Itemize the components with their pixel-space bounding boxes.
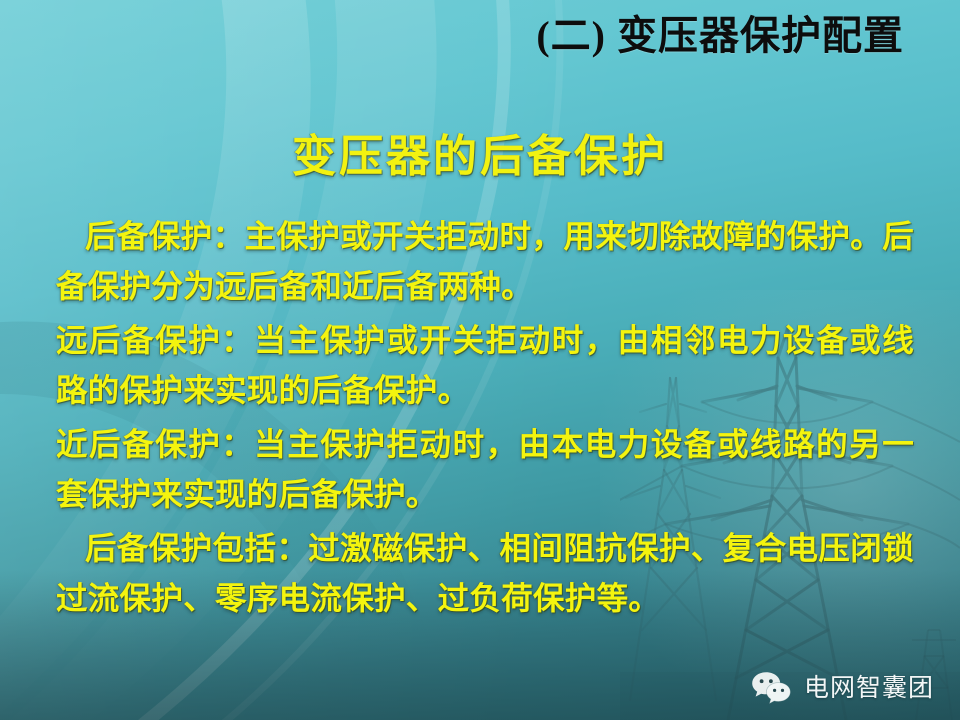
page-title: (二) 变压器保护配置 — [0, 12, 904, 60]
paragraph-backup-protection-types: 后备保护包括：过激磁保护、相间阻抗保护、复合电压闭锁过流保护、零序电流保护、过负… — [56, 524, 914, 624]
watermark: 电网智囊团 — [751, 670, 934, 706]
body-text-block: 后备保护：主保护或开关拒动时，用来切除故障的保护。后备保护分为远后备和近后备两种… — [56, 212, 914, 624]
paragraph-remote-backup-protection: 远后备保护：当主保护或开关拒动时，由相邻电力设备或线路的保护来实现的后备保护。 — [56, 316, 914, 416]
wechat-icon — [751, 670, 793, 706]
slide-canvas: (二) 变压器保护配置 变压器的后备保护 后备保护：主保护或开关拒动时，用来切除… — [0, 0, 960, 720]
watermark-label: 电网智囊团 — [804, 673, 934, 703]
paragraph-backup-protection-definition: 后备保护：主保护或开关拒动时，用来切除故障的保护。后备保护分为远后备和近后备两种… — [56, 212, 914, 312]
section-subtitle: 变压器的后备保护 — [0, 130, 960, 184]
paragraph-local-backup-protection: 近后备保护：当主保护拒动时，由本电力设备或线路的另一套保护来实现的后备保护。 — [56, 420, 914, 520]
